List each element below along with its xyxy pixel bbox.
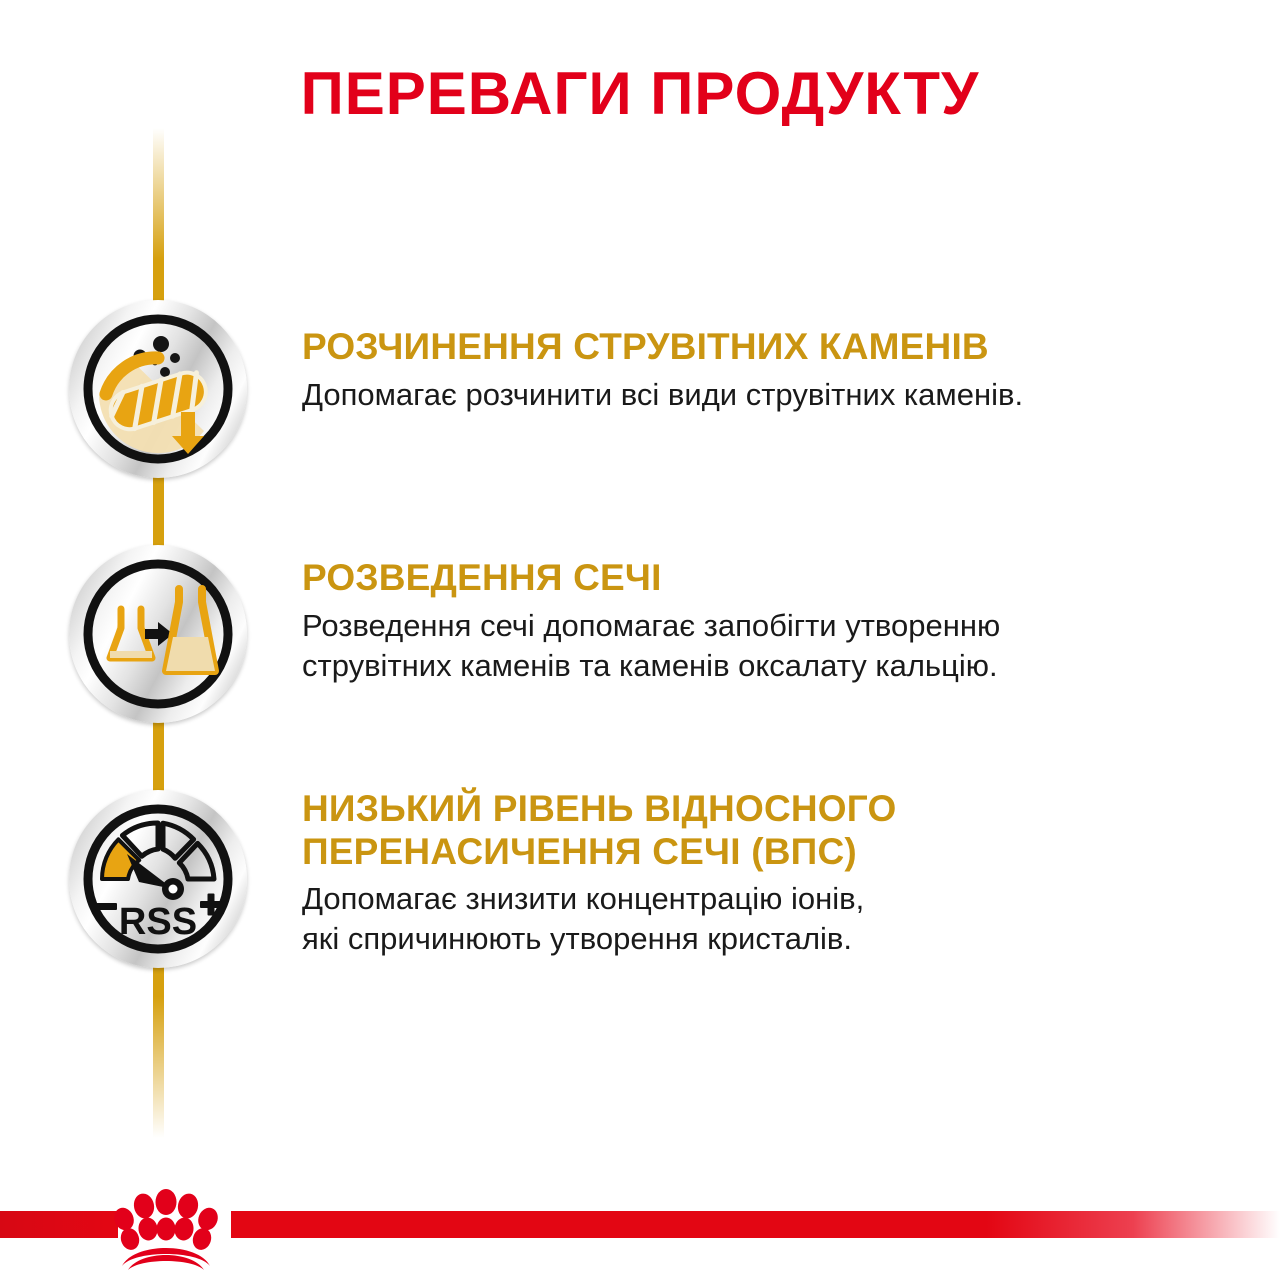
footer-bar-left xyxy=(0,1211,118,1238)
urine-dilution-flasks-icon xyxy=(69,545,247,723)
footer xyxy=(0,1160,1280,1280)
footer-bar-right xyxy=(231,1211,1280,1238)
royal-canin-crown-logo xyxy=(104,1184,228,1270)
page-title: ПЕРЕВАГИ ПРОДУКТУ xyxy=(0,64,1280,124)
benefit-heading-1: РОЗЧИНЕННЯ СТРУВІТНИХ КАМЕНІВ xyxy=(302,326,1232,369)
benefit-text-2: РОЗВЕДЕННЯ СЕЧІ Розведення сечі допомага… xyxy=(302,557,1232,686)
rss-gauge-label: RSS xyxy=(119,901,197,943)
benefit-body-2: Розведення сечі допомагає запобігти утво… xyxy=(302,606,1232,687)
benefit-heading-3: НИЗЬКИЙ РІВЕНЬ ВІДНОСНОГО ПЕРЕНАСИЧЕННЯ … xyxy=(302,788,1232,873)
benefit-text-1: РОЗЧИНЕННЯ СТРУВІТНИХ КАМЕНІВ Допомагає … xyxy=(302,326,1232,415)
benefit-body-1: Допомагає розчинити всі види струвітних … xyxy=(302,375,1232,415)
struvite-stone-dissolution-icon xyxy=(69,300,247,478)
benefit-heading-2: РОЗВЕДЕННЯ СЕЧІ xyxy=(302,557,1232,600)
benefit-body-3: Допомагає знизити концентрацію іонів, як… xyxy=(302,879,1232,960)
benefit-text-3: НИЗЬКИЙ РІВЕНЬ ВІДНОСНОГО ПЕРЕНАСИЧЕННЯ … xyxy=(302,788,1232,960)
rss-gauge-icon: RSS xyxy=(69,790,247,968)
